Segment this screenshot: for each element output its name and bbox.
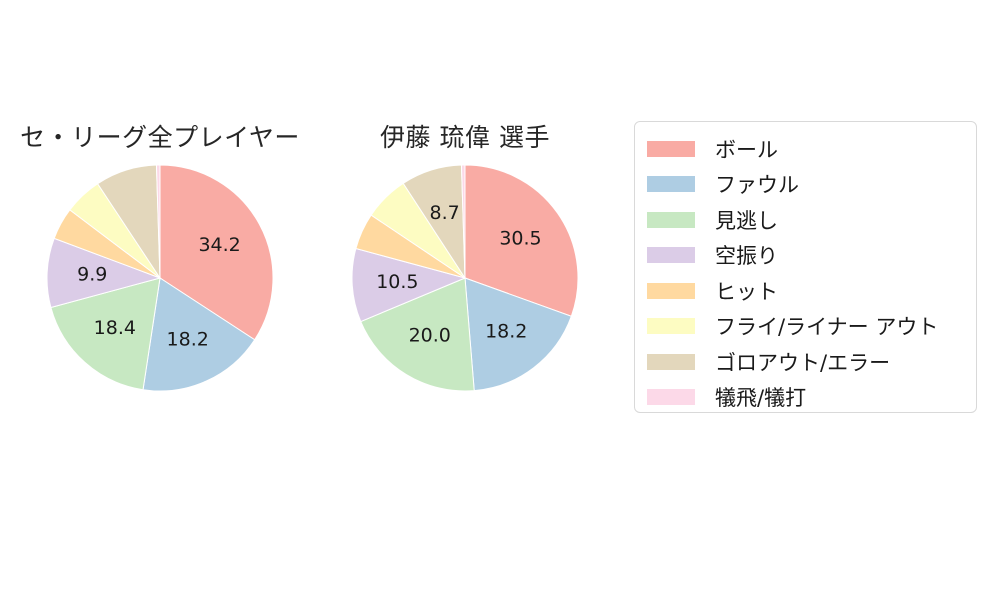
legend-rows: ボールファウル見逃し空振りヒットフライ/ライナー アウトゴロアウト/エラー犠飛/… [635, 131, 976, 415]
legend-item[interactable]: ゴロアウト/エラー [635, 344, 976, 380]
pie-slice-label: 18.2 [485, 320, 527, 342]
legend-label: ファウル [715, 169, 799, 199]
legend-swatch [647, 176, 695, 192]
pie-slice-label: 10.5 [376, 271, 418, 293]
pie-slice-label: 18.2 [167, 328, 209, 350]
legend-swatch [647, 283, 695, 299]
legend-label: フライ/ライナー アウト [715, 311, 938, 341]
legend-item[interactable]: ファウル [635, 167, 976, 203]
chart-panel-player: 伊藤 琉偉 選手 30.518.220.010.58.7 [315, 110, 615, 410]
legend-swatch [647, 354, 695, 370]
legend-label: 空振り [715, 240, 778, 270]
legend-label: ボール [715, 134, 778, 164]
chart-panel-league: セ・リーグ全プレイヤー 34.218.218.49.9 [10, 110, 310, 410]
pitch-outcome-pie-figure: セ・リーグ全プレイヤー 34.218.218.49.9 伊藤 琉偉 選手 30.… [0, 0, 1000, 600]
legend-item[interactable]: フライ/ライナー アウト [635, 309, 976, 345]
legend-item[interactable]: ヒット [635, 273, 976, 309]
legend-label: 見逃し [715, 205, 778, 235]
legend-label: 犠飛/犠打 [715, 382, 806, 412]
legend-item[interactable]: 犠飛/犠打 [635, 380, 976, 416]
legend-box: ボールファウル見逃し空振りヒットフライ/ライナー アウトゴロアウト/エラー犠飛/… [634, 121, 977, 413]
pie-slice-label: 20.0 [409, 324, 451, 346]
pie-slice-label: 8.7 [430, 202, 460, 224]
legend-item[interactable]: ボール [635, 131, 976, 167]
pie-chart-player: 30.518.220.010.58.7 [315, 165, 615, 405]
legend-swatch [647, 141, 695, 157]
pie-slice-label: 34.2 [198, 234, 240, 256]
pie-chart-league: 34.218.218.49.9 [10, 165, 310, 405]
pie-svg: 34.218.218.49.9 [10, 165, 310, 405]
legend-item[interactable]: 空振り [635, 238, 976, 274]
pie-slice-label: 30.5 [499, 228, 541, 250]
pie-slice-label: 9.9 [77, 263, 107, 285]
legend-swatch [647, 389, 695, 405]
pie-slice-label: 18.4 [94, 317, 136, 339]
legend-swatch [647, 212, 695, 228]
pie-svg: 30.518.220.010.58.7 [315, 165, 615, 405]
legend-label: ヒット [715, 276, 778, 306]
chart-title-league: セ・リーグ全プレイヤー [10, 118, 310, 154]
legend-item[interactable]: 見逃し [635, 202, 976, 238]
legend-label: ゴロアウト/エラー [715, 347, 890, 377]
legend-swatch [647, 318, 695, 334]
chart-title-player: 伊藤 琉偉 選手 [315, 118, 615, 154]
legend-swatch [647, 247, 695, 263]
